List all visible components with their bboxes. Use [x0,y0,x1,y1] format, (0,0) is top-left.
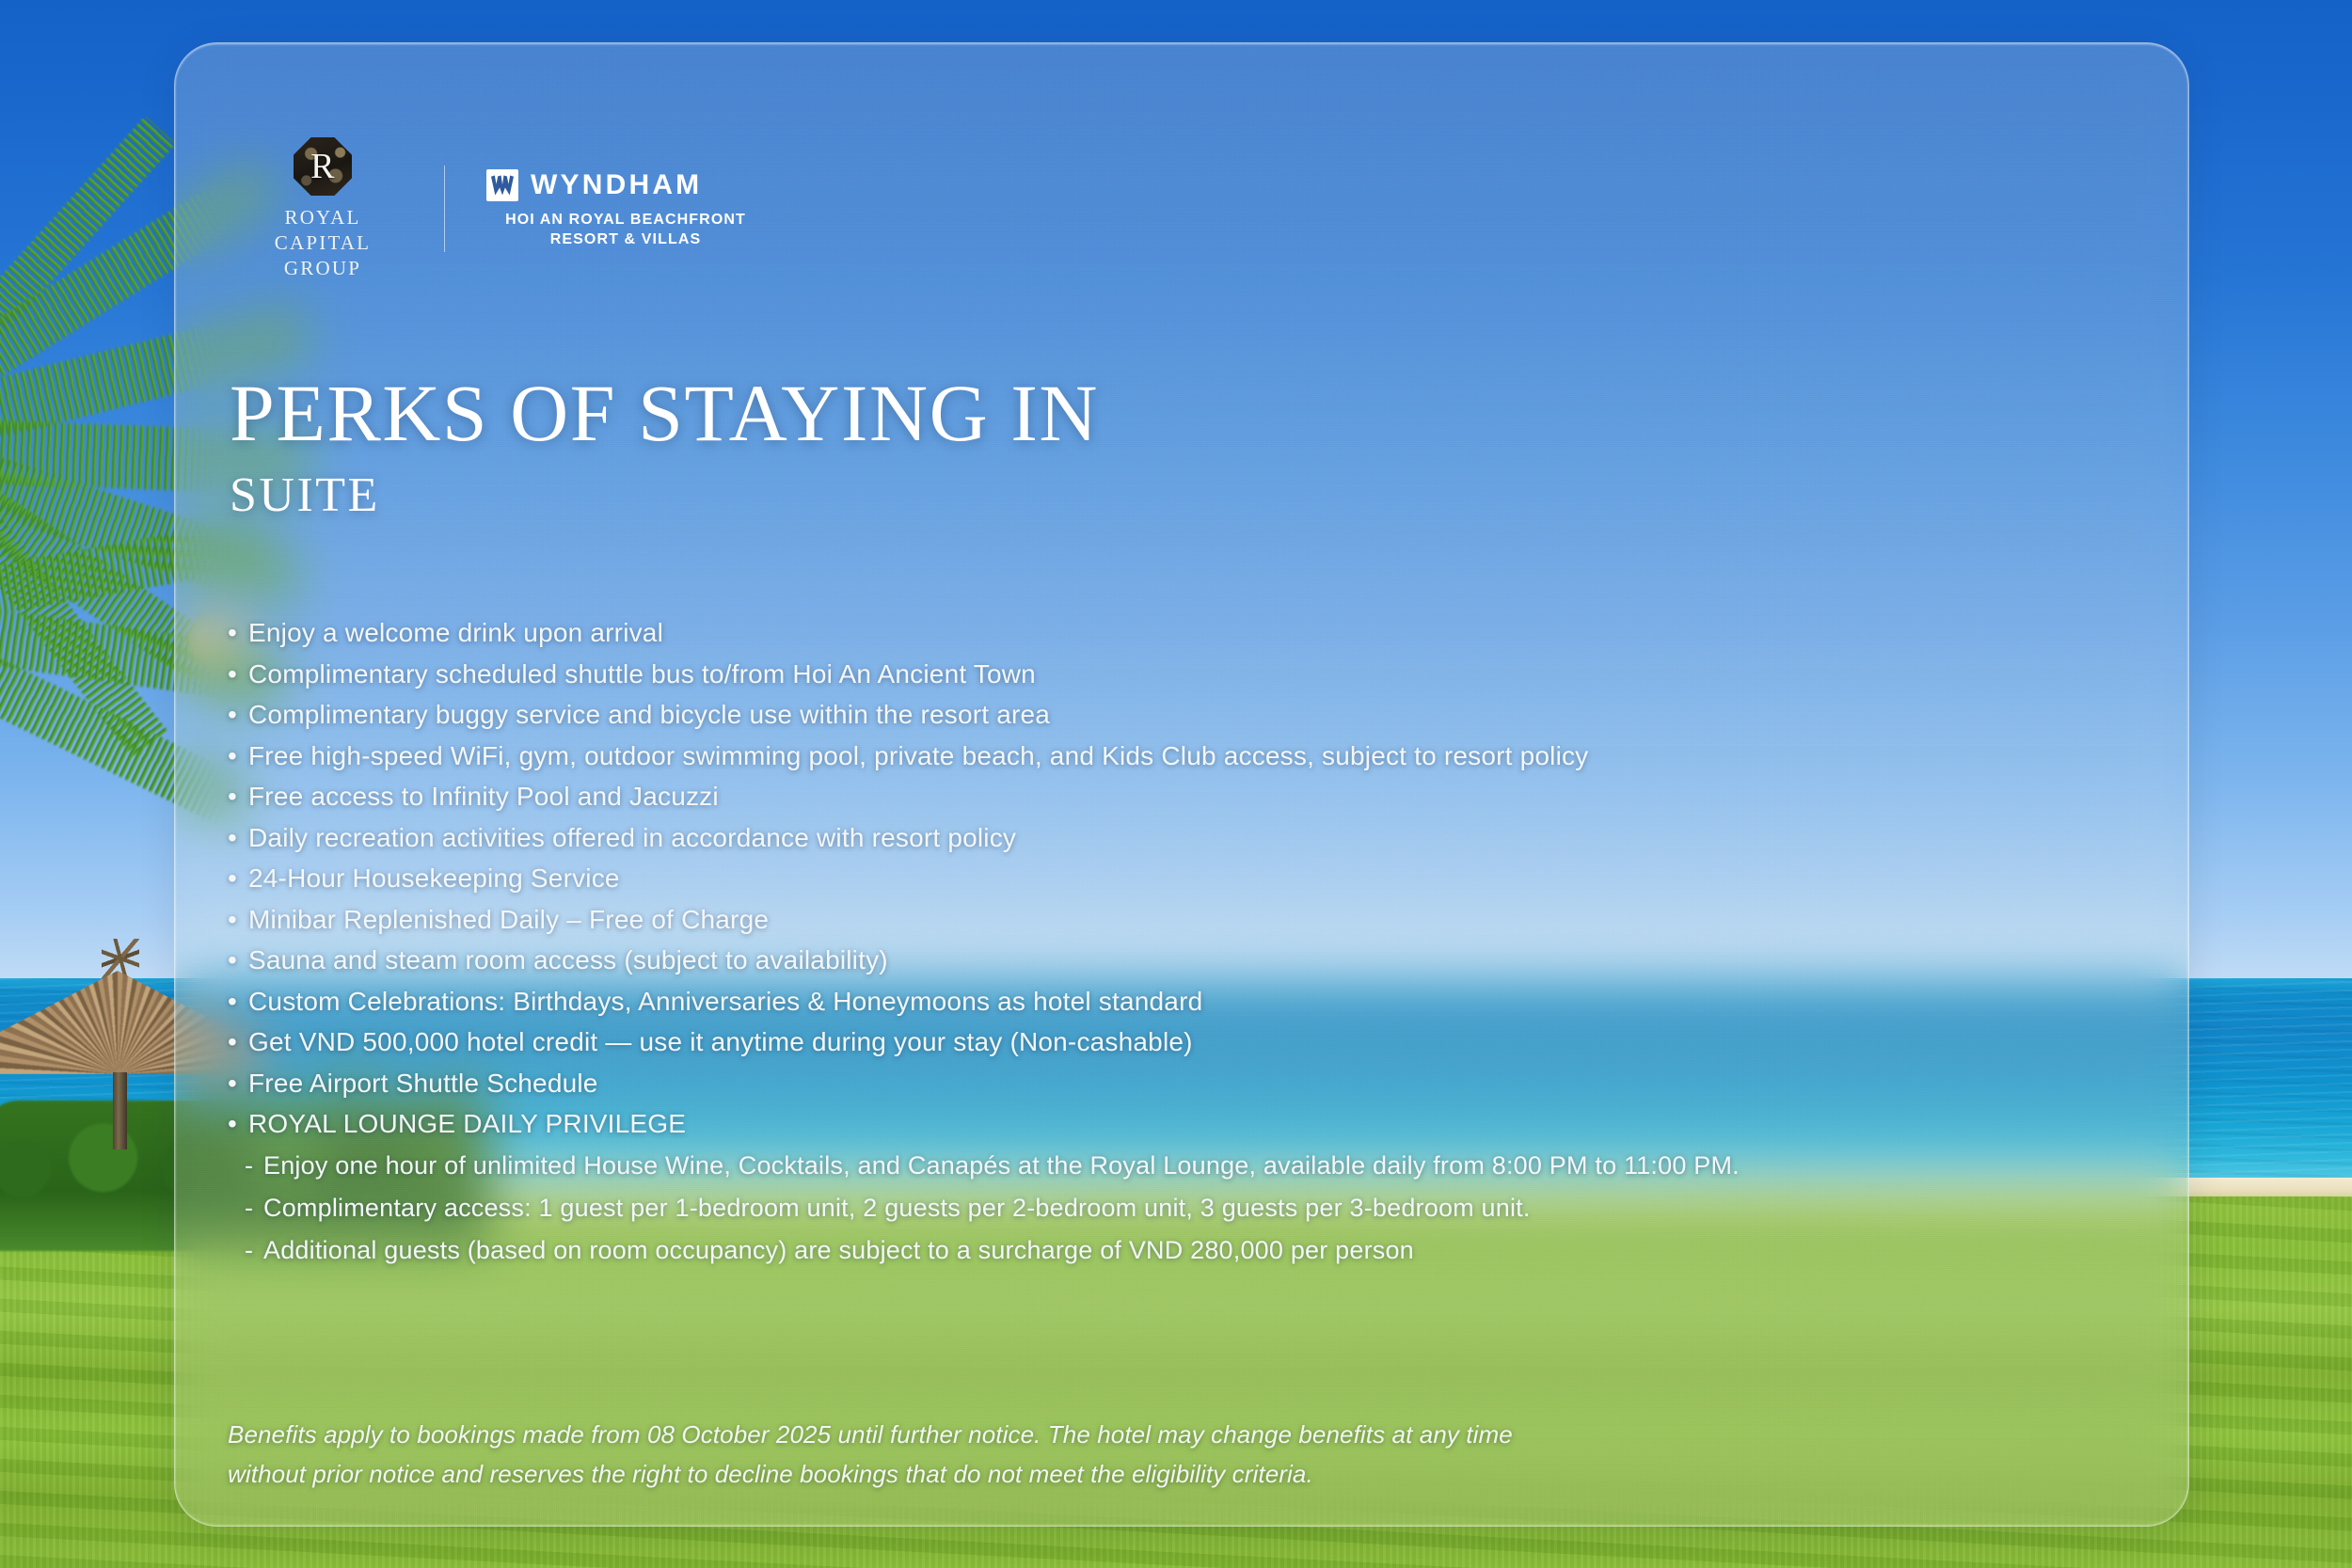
bullet-marker-icon: • [228,736,248,777]
page-subtitle: SUITE [230,471,380,520]
disclaimer-note: Benefits apply to bookings made from 08 … [228,1415,2109,1494]
perk-sub-item: -Complimentary access: 1 guest per 1-bed… [228,1187,2137,1229]
logo-row: R ROYAL CAPITAL GROUP WYNDHAM HOI AN ROY… [233,137,765,281]
wyndham-property-name: HOI AN ROYAL BEACHFRONT RESORT & VILLAS [486,210,765,249]
bullet-marker-icon: • [228,899,248,941]
perk-item: •Get VND 500,000 hotel credit — use it a… [228,1022,2137,1063]
royal-capital-badge-icon: R [294,137,352,196]
perk-text: Custom Celebrations: Birthdays, Annivers… [248,987,1202,1016]
royal-capital-line1: ROYAL CAPITAL [233,205,412,256]
perk-text: ROYAL LOUNGE DAILY PRIVILEGE [248,1109,686,1138]
perk-text: Free access to Infinity Pool and Jacuzzi [248,782,719,811]
disclaimer-line-1: Benefits apply to bookings made from 08 … [228,1415,2109,1454]
perk-item: •Minibar Replenished Daily – Free of Cha… [228,899,2137,941]
perk-text: Enjoy a welcome drink upon arrival [248,618,663,647]
frosted-glass-card: R ROYAL CAPITAL GROUP WYNDHAM HOI AN ROY… [174,42,2189,1527]
perk-sub-item: -Enjoy one hour of unlimited House Wine,… [228,1145,2137,1187]
perk-item: •24-Hour Housekeeping Service [228,858,2137,899]
wyndham-wordmark: WYNDHAM [531,171,702,199]
perk-item: •Complimentary scheduled shuttle bus to/… [228,654,2137,695]
royal-capital-monogram: R [294,137,352,196]
bullet-marker-icon: • [228,817,248,859]
perk-text: Complimentary scheduled shuttle bus to/f… [248,659,1036,689]
wyndham-logo: WYNDHAM HOI AN ROYAL BEACHFRONT RESORT &… [486,169,765,249]
page-title: PERKS OF STAYING IN [230,372,1099,453]
perk-text: Get VND 500,000 hotel credit — use it an… [248,1027,1193,1056]
bullet-marker-icon: • [228,981,248,1022]
perk-item: •Complimentary buggy service and bicycle… [228,694,2137,736]
perk-item: •Free high-speed WiFi, gym, outdoor swim… [228,736,2137,777]
bullet-marker-icon: • [228,694,248,736]
perk-item: •Free access to Infinity Pool and Jacuzz… [228,776,2137,817]
perk-text: Free high-speed WiFi, gym, outdoor swimm… [248,741,1588,770]
perk-text: Free Airport Shuttle Schedule [248,1069,598,1098]
perk-text: Complimentary buggy service and bicycle … [248,700,1050,729]
bullet-marker-icon: • [228,940,248,981]
poster-canvas: R ROYAL CAPITAL GROUP WYNDHAM HOI AN ROY… [0,0,2352,1568]
bullet-marker-icon: • [228,612,248,654]
bullet-marker-icon: • [228,858,248,899]
perk-item: •Free Airport Shuttle Schedule [228,1063,2137,1104]
perk-text: Enjoy one hour of unlimited House Wine, … [263,1151,1740,1180]
perk-text: Sauna and steam room access (subject to … [248,945,888,974]
perk-text: Additional guests (based on room occupan… [263,1236,1414,1264]
dash-marker-icon: - [245,1187,263,1229]
perk-item: •Daily recreation activities offered in … [228,817,2137,859]
dash-marker-icon: - [245,1145,263,1187]
perk-item: •Sauna and steam room access (subject to… [228,940,2137,981]
perks-list: •Enjoy a welcome drink upon arrival•Comp… [228,612,2137,1272]
bullet-marker-icon: • [228,654,248,695]
perk-sub-item: -Additional guests (based on room occupa… [228,1229,2137,1272]
perk-text: Complimentary access: 1 guest per 1-bedr… [263,1194,1531,1222]
bullet-marker-icon: • [228,1063,248,1104]
wyndham-crest-icon [486,169,518,201]
perk-text: Daily recreation activities offered in a… [248,823,1016,852]
dash-marker-icon: - [245,1229,263,1272]
royal-capital-group-logo: R ROYAL CAPITAL GROUP [233,137,412,281]
bullet-marker-icon: • [228,1022,248,1063]
bullet-marker-icon: • [228,776,248,817]
perk-text: 24-Hour Housekeeping Service [248,863,620,893]
perk-item: •Enjoy a welcome drink upon arrival [228,612,2137,654]
perk-text: Minibar Replenished Daily – Free of Char… [248,905,769,934]
disclaimer-line-2: without prior notice and reserves the ri… [228,1454,2109,1494]
logo-divider [444,166,445,252]
perk-item: •Custom Celebrations: Birthdays, Anniver… [228,981,2137,1022]
bullet-marker-icon: • [228,1103,248,1145]
royal-capital-line2: GROUP [233,256,412,281]
perk-item: •ROYAL LOUNGE DAILY PRIVILEGE [228,1103,2137,1145]
